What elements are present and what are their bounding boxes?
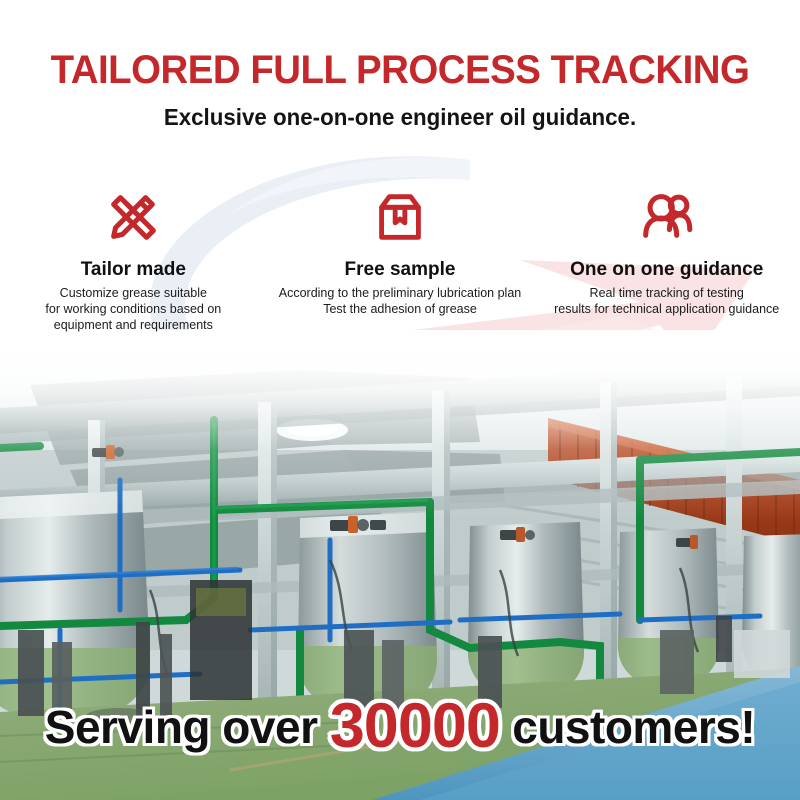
page-subtitle: Exclusive one-on-one engineer oil guidan… [12,90,788,131]
customers-banner: Serving over 30000 customers! [0,690,800,762]
banner-prefix: Serving over [45,701,330,753]
feature-item-free-sample: Free sample According to the preliminary… [267,180,534,345]
two-people-icon [533,180,800,254]
ruler-pencil-icon [0,180,267,254]
customer-count: 30000 [330,691,500,761]
two-people-icon-glyph [636,186,698,248]
photo-top-fade [0,330,800,450]
feature-description: Customize grease suitable for working co… [28,285,238,333]
feature-title: Free sample [267,260,534,281]
banner-suffix: customers! [500,701,755,753]
poster-canvas: TAILORED FULL PROCESS TRACKING Exclusive… [0,0,800,800]
feature-title: One on one guidance [533,260,800,281]
feature-list: Tailor made Customize grease suitable fo… [0,180,800,345]
page-title: TAILORED FULL PROCESS TRACKING [16,0,784,90]
header: TAILORED FULL PROCESS TRACKING Exclusive… [0,0,800,131]
ruler-pencil-icon-glyph [102,186,164,248]
package-box-icon [267,180,534,254]
package-box-icon-glyph [369,186,431,248]
feature-description: Real time tracking of testing results fo… [534,285,799,317]
feature-description: According to the preliminary lubrication… [267,285,534,317]
feature-item-tailor-made: Tailor made Customize grease suitable fo… [0,180,267,345]
feature-title: Tailor made [0,260,267,281]
feature-item-one-on-one: One on one guidance Real time tracking o… [533,180,800,345]
